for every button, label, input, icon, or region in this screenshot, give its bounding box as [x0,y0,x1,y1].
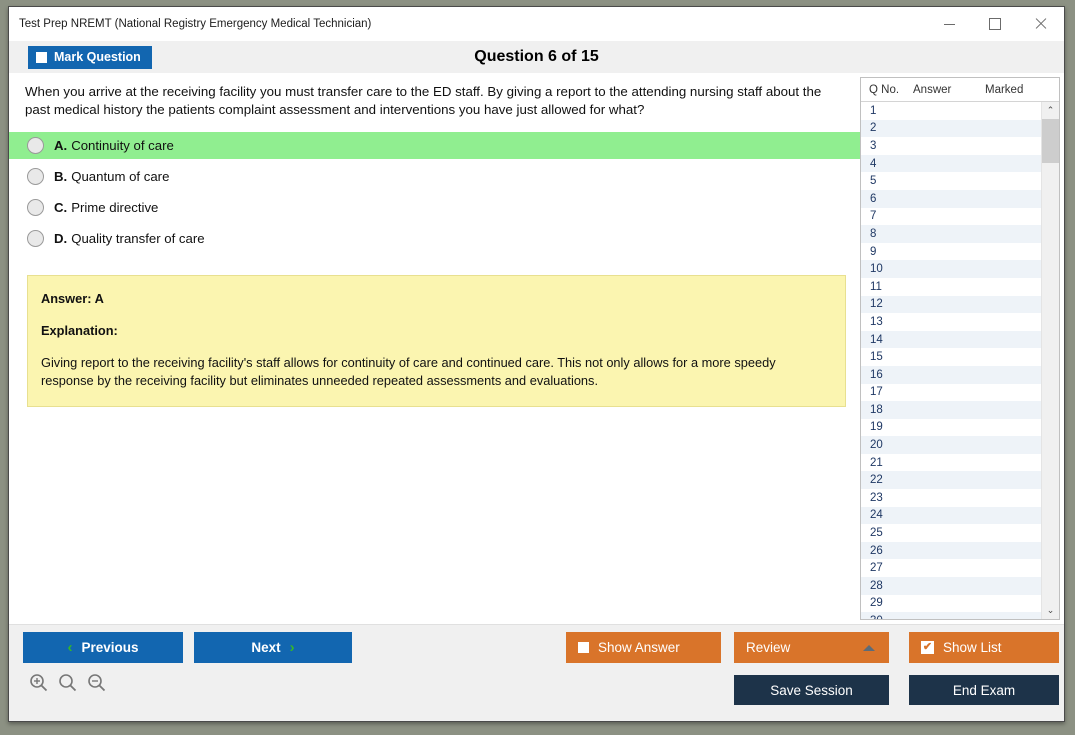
table-row[interactable]: 30 [861,612,1041,619]
column-header-qno: Q No. [861,84,913,96]
option-text-a: Continuity of care [71,138,174,153]
table-row[interactable]: 23 [861,489,1041,507]
chevron-left-icon: ‹ [67,640,72,655]
question-list-scrollbar[interactable]: ⌃ ⌄ [1041,102,1059,619]
cell-qno: 12 [861,298,913,310]
next-label: Next [251,640,280,655]
option-text-c: Prime directive [71,200,158,215]
scroll-up-icon[interactable]: ⌃ [1042,102,1059,119]
cell-qno: 16 [861,369,913,381]
zoom-out-icon[interactable] [87,673,106,692]
cell-qno: 1 [861,105,913,117]
option-row-d[interactable]: D. Quality transfer of care [9,225,860,252]
table-row[interactable]: 24 [861,507,1041,525]
cell-qno: 4 [861,158,913,170]
cell-qno: 5 [861,175,913,187]
chevron-right-icon: › [290,640,295,655]
question-text: When you arrive at the receiving facilit… [9,73,860,120]
close-button[interactable] [1018,8,1064,41]
mark-question-button[interactable]: Mark Question [28,46,152,69]
table-row[interactable]: 9 [861,243,1041,261]
column-header-marked: Marked [985,84,1059,96]
show-list-button[interactable]: ✔ Show List [909,632,1059,663]
explanation-label: Explanation: [41,322,831,341]
table-row[interactable]: 27 [861,559,1041,577]
option-text-d: Quality transfer of care [71,231,204,246]
table-row[interactable]: 29 [861,595,1041,613]
zoom-in-icon[interactable] [29,673,48,692]
main-content: When you arrive at the receiving facilit… [9,73,1064,624]
chevron-up-icon [863,645,875,651]
end-exam-button[interactable]: End Exam [909,675,1059,705]
save-session-label: Save Session [770,683,853,698]
cell-qno: 23 [861,492,913,504]
table-row[interactable]: 6 [861,190,1041,208]
option-text-b: Quantum of care [71,169,169,184]
table-row[interactable]: 20 [861,436,1041,454]
cell-qno: 7 [861,210,913,222]
option-row-c[interactable]: C. Prime directive [9,194,860,221]
previous-button[interactable]: ‹ Previous [23,632,183,663]
cell-qno: 10 [861,263,913,275]
previous-label: Previous [81,640,138,655]
question-list-panel: Q No. Answer Marked 12345678910111213141… [860,77,1060,620]
save-session-button[interactable]: Save Session [734,675,889,705]
title-bar: Test Prep NREMT (National Registry Emerg… [9,7,1064,41]
table-row[interactable]: 10 [861,260,1041,278]
cell-qno: 25 [861,527,913,539]
end-exam-label: End Exam [953,683,1015,698]
option-letter-d: D. [54,231,67,246]
footer-toolbar: ‹ Previous Next › Show Answer Review ✔ S… [9,624,1064,721]
option-row-b[interactable]: B. Quantum of care [9,163,860,190]
minimize-icon [944,24,955,25]
table-row[interactable]: 7 [861,208,1041,226]
cell-qno: 11 [861,281,913,293]
cell-qno: 13 [861,316,913,328]
table-row[interactable]: 26 [861,542,1041,560]
zoom-reset-icon[interactable] [58,673,77,692]
table-row[interactable]: 16 [861,366,1041,384]
cell-qno: 21 [861,457,913,469]
option-letter-b: B. [54,169,67,184]
table-row[interactable]: 14 [861,331,1041,349]
table-row[interactable]: 1 [861,102,1041,120]
cell-qno: 24 [861,509,913,521]
option-letter-c: C. [54,200,67,215]
review-label: Review [746,640,790,655]
option-letter-a: A. [54,138,67,153]
answer-line: Answer: A [41,290,831,309]
cell-qno: 28 [861,580,913,592]
table-row[interactable]: 5 [861,172,1041,190]
close-icon [1035,18,1047,30]
table-row[interactable]: 19 [861,419,1041,437]
show-answer-label: Show Answer [598,640,680,655]
cell-qno: 14 [861,334,913,346]
table-row[interactable]: 28 [861,577,1041,595]
cell-qno: 18 [861,404,913,416]
cell-qno: 9 [861,246,913,258]
minimize-button[interactable] [926,8,972,41]
column-header-answer: Answer [913,84,985,96]
table-row[interactable]: 22 [861,471,1041,489]
radio-icon-d[interactable] [27,230,44,247]
table-row[interactable]: 3 [861,137,1041,155]
application-window: Test Prep NREMT (National Registry Emerg… [8,6,1065,722]
scrollbar-thumb[interactable] [1042,119,1059,163]
question-list-body: 1234567891011121314151617181920212223242… [861,102,1059,619]
next-button[interactable]: Next › [194,632,352,663]
cell-qno: 27 [861,562,913,574]
cell-qno: 29 [861,597,913,609]
cell-qno: 26 [861,545,913,557]
cell-qno: 3 [861,140,913,152]
table-row[interactable]: 4 [861,155,1041,173]
table-row[interactable]: 15 [861,348,1041,366]
cell-qno: 22 [861,474,913,486]
cell-qno: 19 [861,421,913,433]
answer-explanation-panel: Answer: A Explanation: Giving report to … [27,275,846,407]
cell-qno: 15 [861,351,913,363]
scrollbar-track[interactable] [1042,119,1059,602]
show-list-label: Show List [943,640,1002,655]
cell-qno: 6 [861,193,913,205]
radio-icon-c[interactable] [27,199,44,216]
cell-qno: 20 [861,439,913,451]
answer-options-list: A. Continuity of care B. Quantum of care… [9,132,860,256]
cell-qno: 17 [861,386,913,398]
table-row[interactable]: 8 [861,225,1041,243]
cell-qno: 8 [861,228,913,240]
maximize-icon [989,18,1001,30]
window-title: Test Prep NREMT (National Registry Emerg… [9,18,371,30]
table-row[interactable]: 21 [861,454,1041,472]
scroll-down-icon[interactable]: ⌄ [1042,602,1059,619]
show-list-checkbox-icon: ✔ [921,641,934,654]
radio-icon-b[interactable] [27,168,44,185]
maximize-button[interactable] [972,8,1018,41]
table-row[interactable]: 17 [861,384,1041,402]
table-row[interactable]: 11 [861,278,1041,296]
review-dropdown-button[interactable]: Review [734,632,889,663]
option-row-a[interactable]: A. Continuity of care [9,132,860,159]
question-header-bar: Mark Question Question 6 of 15 [9,41,1064,73]
cell-qno: 2 [861,122,913,134]
explanation-body: Giving report to the receiving facility'… [41,354,831,390]
show-answer-button[interactable]: Show Answer [566,632,721,663]
mark-question-label: Mark Question [54,50,141,64]
radio-icon-a[interactable] [27,137,44,154]
question-list-rows[interactable]: 1234567891011121314151617181920212223242… [861,102,1041,619]
table-row[interactable]: 25 [861,524,1041,542]
table-row[interactable]: 13 [861,313,1041,331]
table-row[interactable]: 2 [861,120,1041,138]
cell-qno: 30 [861,615,913,619]
question-list-header: Q No. Answer Marked [861,78,1059,102]
table-row[interactable]: 12 [861,296,1041,314]
mark-question-checkbox-icon [36,52,47,63]
question-counter: Question 6 of 15 [9,48,1064,66]
show-answer-checkbox-icon [578,642,589,653]
table-row[interactable]: 18 [861,401,1041,419]
question-pane: When you arrive at the receiving facilit… [9,73,860,624]
zoom-toolbar [29,673,106,692]
